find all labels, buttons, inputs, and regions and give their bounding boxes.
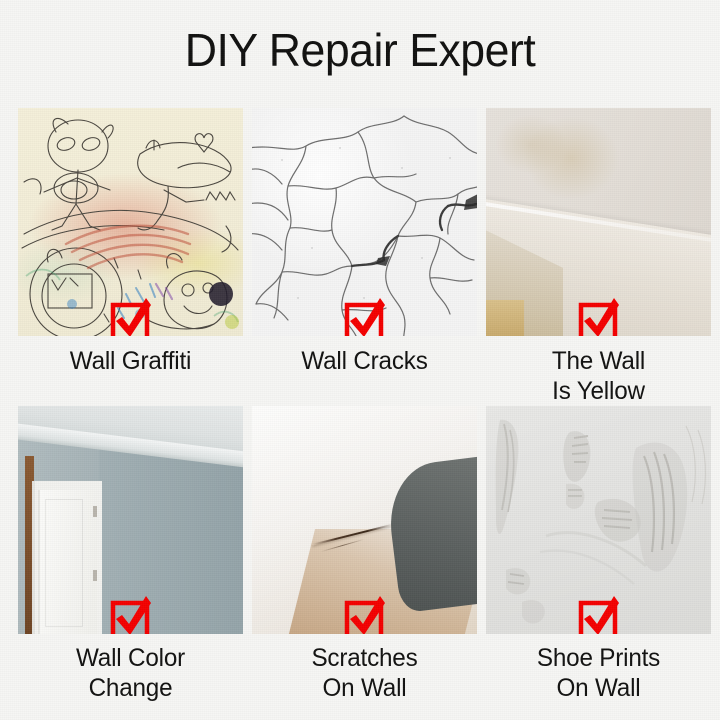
thumbnail-scratches-on-wall[interactable] (252, 406, 477, 634)
feature-grid: Wall Graffiti (18, 108, 702, 703)
grid-item-wall-cracks[interactable]: Wall Cracks (252, 108, 477, 406)
door-panel (45, 499, 83, 626)
thumbnail-shoe-prints-on-wall[interactable] (486, 406, 711, 634)
wood-trim (486, 300, 524, 336)
grid-item-label: Wall Cracks (255, 346, 473, 376)
red-checkbox-icon[interactable] (110, 594, 152, 634)
door-hinge-lower (93, 570, 97, 581)
grid-item-shoe-prints-on-wall[interactable]: Shoe Prints On Wall (486, 406, 711, 703)
red-checkbox-icon[interactable] (344, 594, 386, 634)
grid-item-label: The Wall Is Yellow (489, 346, 707, 406)
poster-root: DIY Repair Expert (0, 0, 720, 720)
grid-item-wall-color-change[interactable]: Wall Color Change (18, 406, 243, 703)
thumbnail-wall-cracks[interactable] (252, 108, 477, 336)
grid-item-label: Wall Color Change (21, 643, 239, 703)
red-checkbox-icon[interactable] (110, 296, 152, 336)
red-checkbox-icon[interactable] (344, 296, 386, 336)
thumbnail-wall-graffiti[interactable] (18, 108, 243, 336)
grid-item-label: Shoe Prints On Wall (489, 643, 707, 703)
grid-item-scratches-on-wall[interactable]: Scratches On Wall (252, 406, 477, 703)
grid-item-label: Wall Graffiti (21, 346, 239, 376)
page-title: DIY Repair Expert (11, 20, 709, 80)
red-checkbox-icon[interactable] (578, 594, 620, 634)
grid-item-label: Scratches On Wall (255, 643, 473, 703)
grid-item-wall-graffiti[interactable]: Wall Graffiti (18, 108, 243, 406)
door-hinge-upper (93, 506, 97, 517)
red-checkbox-icon[interactable] (578, 296, 620, 336)
thumbnail-wall-color-change[interactable] (18, 406, 243, 634)
grid-item-the-wall-is-yellow[interactable]: The Wall Is Yellow (486, 108, 711, 406)
thumbnail-the-wall-is-yellow[interactable] (486, 108, 711, 336)
